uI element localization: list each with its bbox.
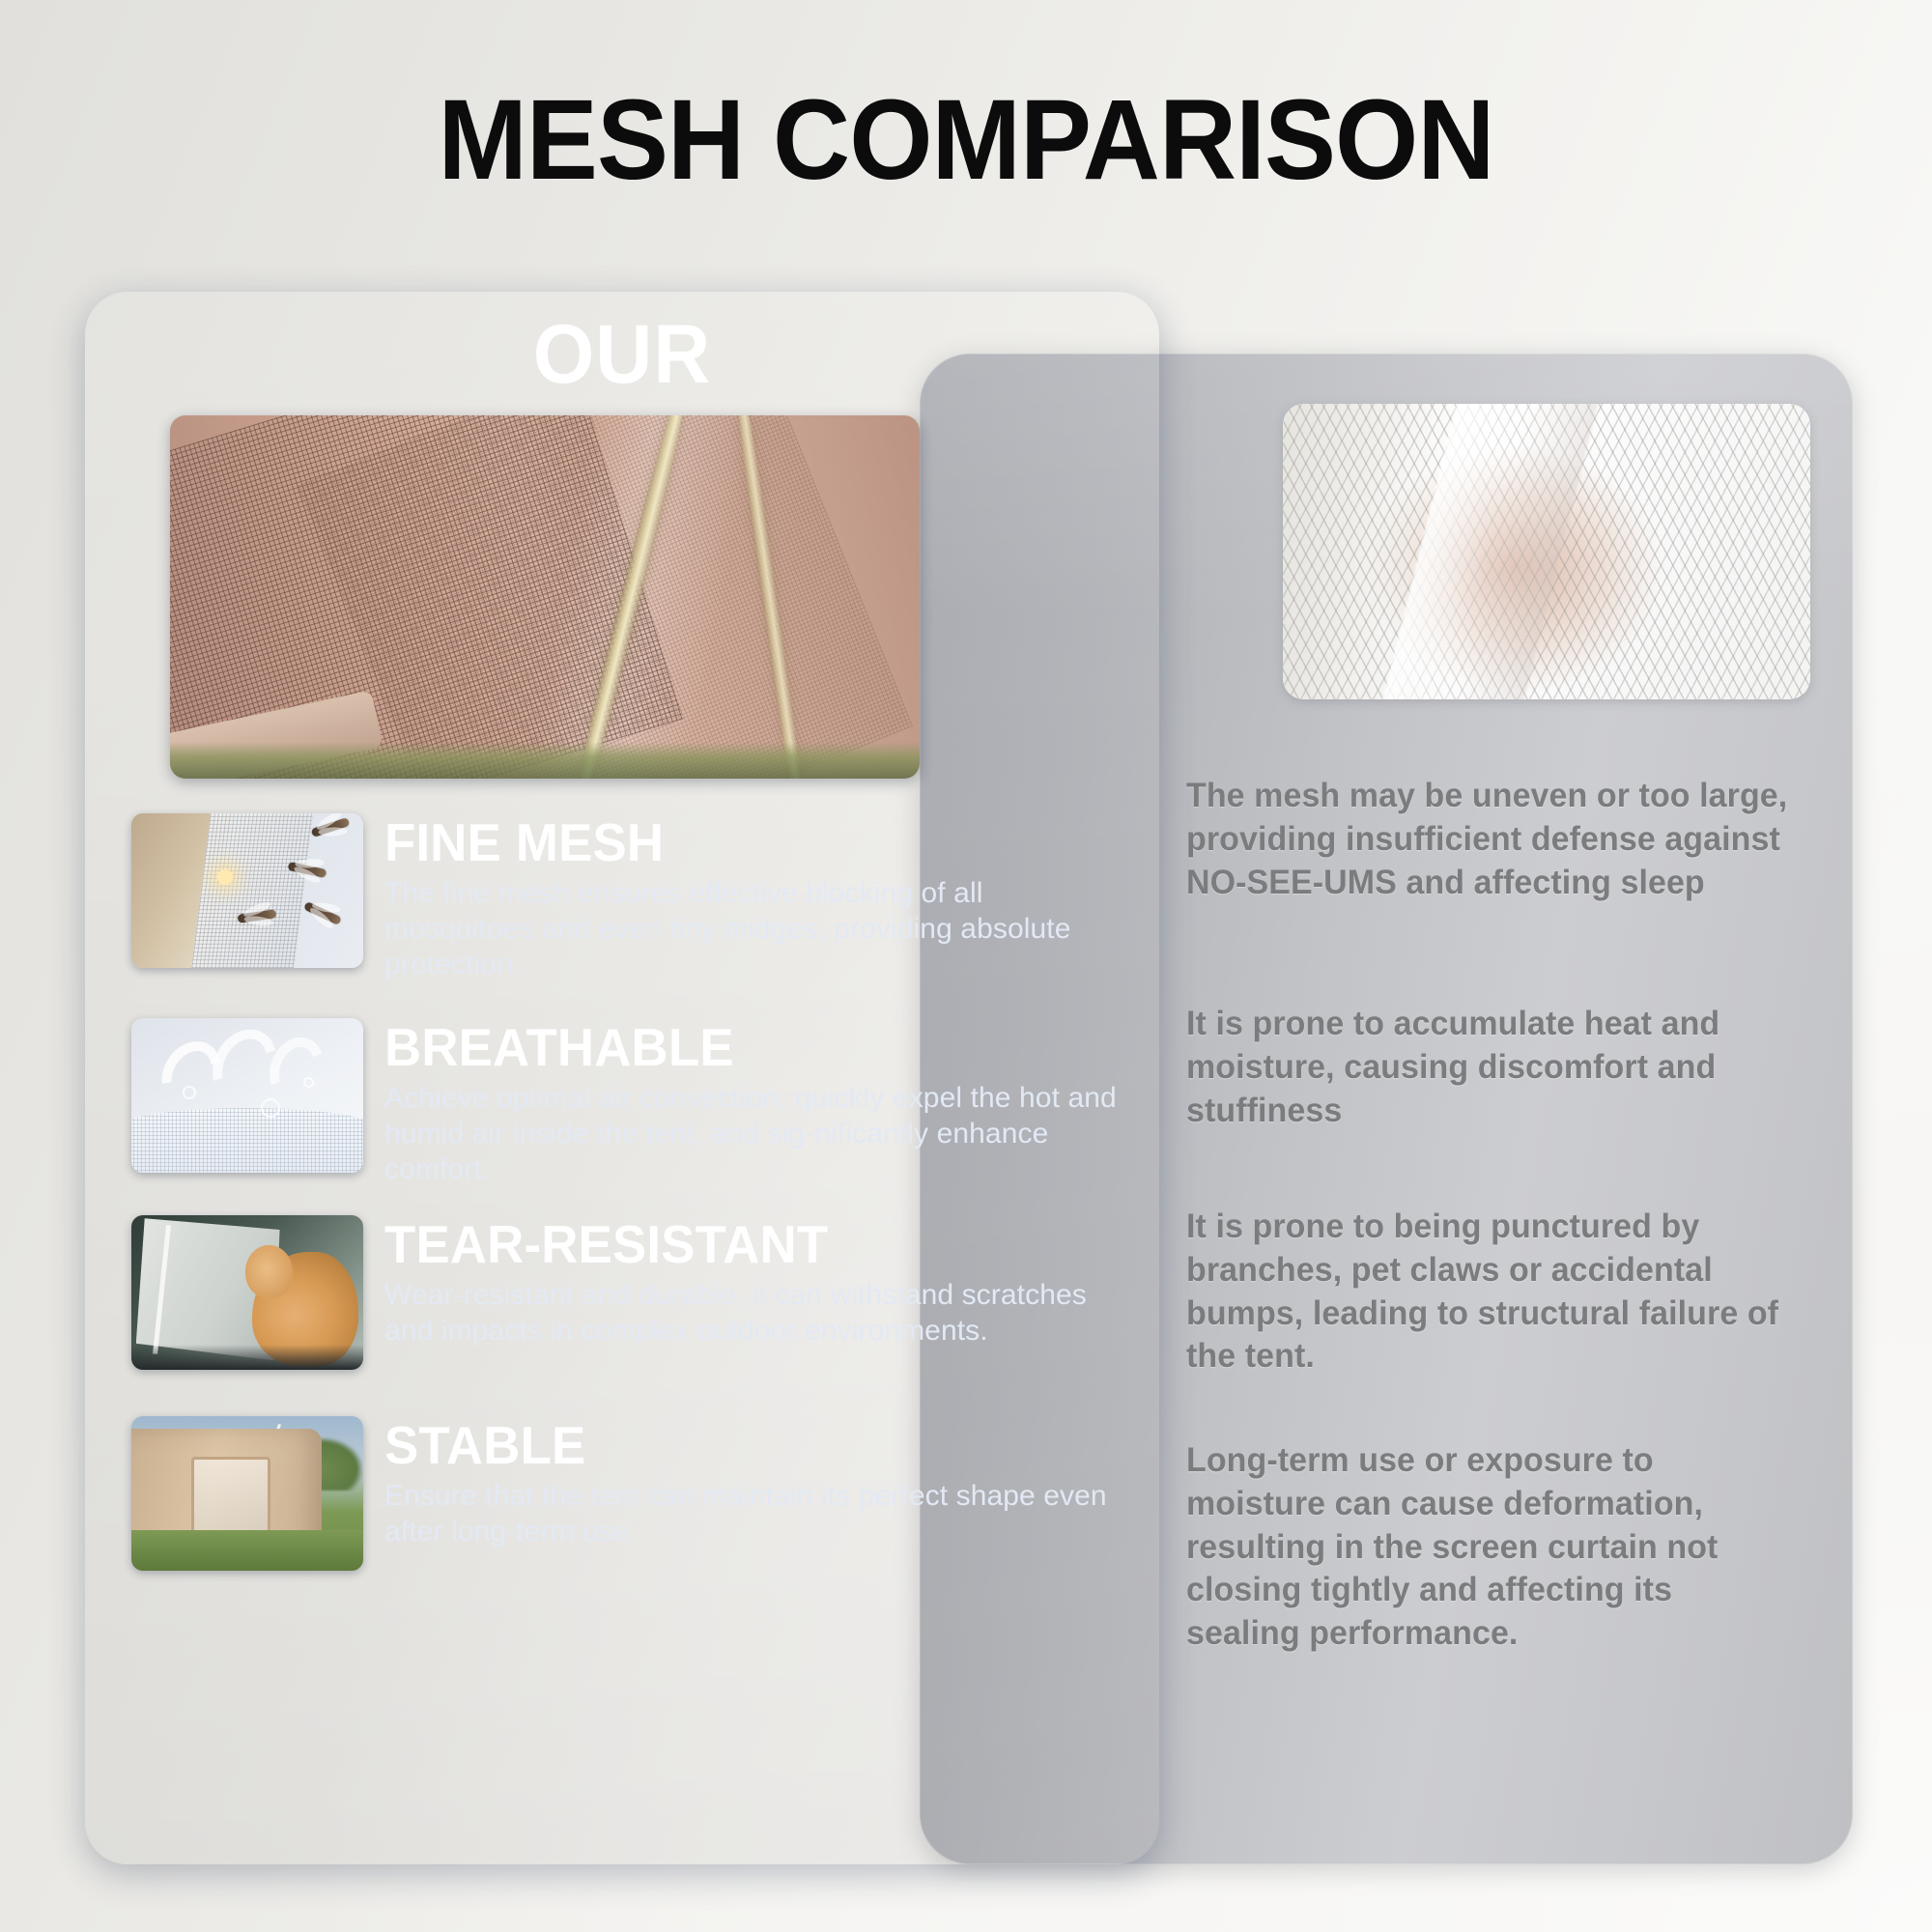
feature-thumb-fine-mesh (131, 813, 363, 968)
others-drawback-item: It is prone to accumulate heat and moist… (1186, 1003, 1810, 1132)
dog-tent-illustration (131, 1215, 363, 1370)
tent-on-grass-illustration (131, 1416, 363, 1571)
feature-title: TEAR-RESISTANT (384, 1217, 1100, 1271)
others-drawback-item: It is prone to being punctured by branch… (1186, 1206, 1810, 1378)
feature-title: BREATHABLE (384, 1020, 1100, 1074)
mosquito-net-illustration (131, 813, 363, 968)
feature-title: STABLE (384, 1418, 1100, 1472)
our-hero-mesh-photo (170, 415, 920, 779)
others-drawback-item: The mesh may be uneven or too large, pro… (1186, 775, 1810, 904)
others-drawback-text: The mesh may be uneven or too large, pro… (1186, 775, 1792, 904)
feature-thumb-tear-resistant (131, 1215, 363, 1370)
feature-title: FINE MESH (384, 815, 1100, 869)
our-panel-heading: OUR (112, 307, 1132, 403)
others-drawback-item: Long-term use or exposure to moisture ca… (1186, 1439, 1810, 1656)
feature-row-stable: STABLE Ensure that the tent can maintain… (131, 1416, 1130, 1571)
feature-body: The fine mesh ensures effective blocking… (384, 875, 1130, 983)
feature-body: Wear-resistant and durable, it can withs… (384, 1277, 1130, 1349)
others-drawback-text: It is prone to being punctured by branch… (1186, 1206, 1792, 1378)
others-drawback-list: The mesh may be uneven or too large, pro… (1186, 775, 1810, 1835)
others-mesh-photo (1283, 404, 1810, 699)
others-drawback-text: Long-term use or exposure to moisture ca… (1186, 1439, 1792, 1656)
fine-mesh-illustration (170, 415, 920, 779)
our-panel: OUR (85, 292, 1159, 1864)
feature-body: Achieve optimal air convection, quickly … (384, 1080, 1130, 1188)
feature-thumb-breathable (131, 1018, 363, 1173)
infographic-canvas: MESH COMPARISON OTHERS The mesh may be u… (0, 0, 1932, 1932)
feature-row-tear-resistant: TEAR-RESISTANT Wear-resistant and durabl… (131, 1215, 1130, 1370)
lace-mesh-illustration (1283, 404, 1810, 699)
feature-body: Ensure that the tent can maintain its pe… (384, 1478, 1130, 1549)
others-drawback-text: It is prone to accumulate heat and moist… (1186, 1003, 1792, 1132)
feature-row-fine-mesh: FINE MESH The fine mesh ensures effectiv… (131, 813, 1130, 983)
page-title: MESH COMPARISON (58, 83, 1874, 197)
feature-thumb-stable (131, 1416, 363, 1571)
feature-row-breathable: BREATHABLE Achieve optimal air convectio… (131, 1018, 1130, 1188)
airflow-illustration (131, 1018, 363, 1173)
